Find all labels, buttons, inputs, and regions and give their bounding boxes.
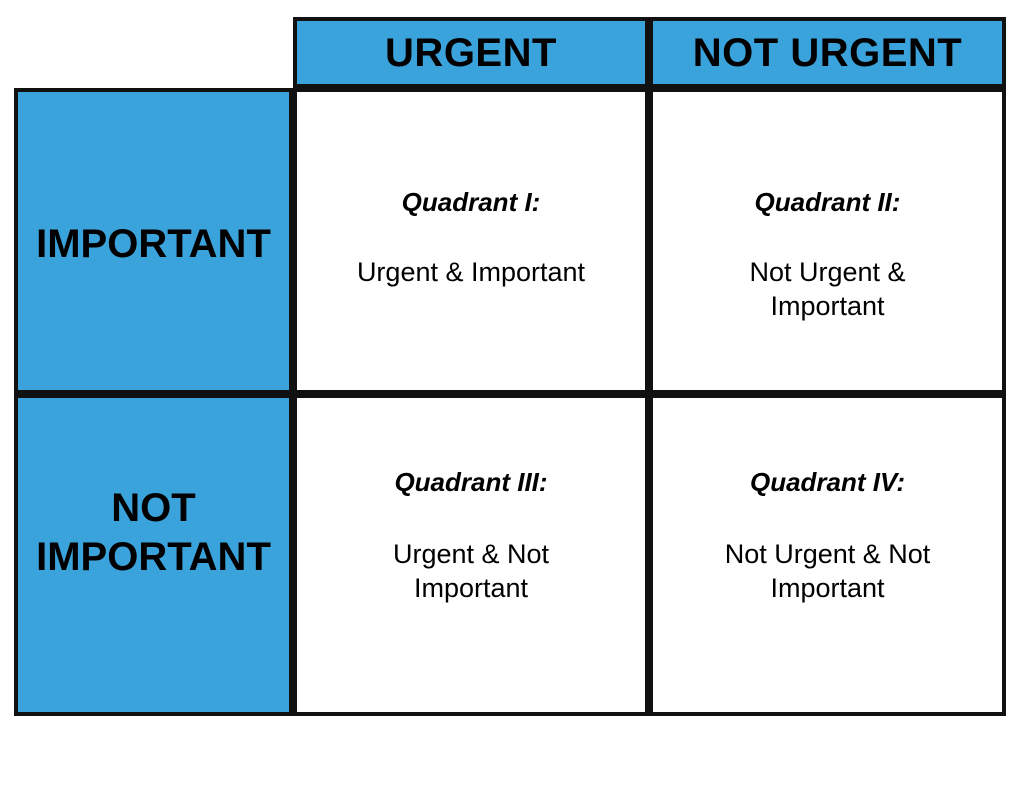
quadrant-2-cell[interactable]: Quadrant II: Not Urgent & Important [649,88,1006,394]
eisenhower-matrix: URGENT NOT URGENT IMPORTANT NOT IMPORTAN… [0,0,1024,791]
quadrant-2-title: Quadrant II: [755,188,901,217]
row-header-important[interactable]: IMPORTANT [14,88,293,394]
quadrant-1-description: Urgent & Important [357,255,585,290]
quadrant-3-description: Urgent & Not Important [376,537,566,606]
quadrant-3-cell[interactable]: Quadrant III: Urgent & Not Important [293,394,649,716]
row-header-not-important-label: NOT IMPORTANT [36,484,271,582]
column-header-urgent[interactable]: URGENT [293,17,649,88]
quadrant-1-cell[interactable]: Quadrant I: Urgent & Important [293,88,649,394]
quadrant-4-title: Quadrant IV: [750,468,905,497]
quadrant-3-title: Quadrant III: [394,468,547,497]
quadrant-4-description: Not Urgent & Not Important [703,537,953,606]
row-header-not-important[interactable]: NOT IMPORTANT [14,394,293,716]
column-header-not-urgent[interactable]: NOT URGENT [649,17,1006,88]
column-header-urgent-label: URGENT [385,33,557,73]
matrix-corner-spacer [0,0,293,88]
quadrant-2-description: Not Urgent & Important [720,255,935,324]
row-header-important-label: IMPORTANT [36,220,271,269]
quadrant-4-cell[interactable]: Quadrant IV: Not Urgent & Not Important [649,394,1006,716]
column-header-not-urgent-label: NOT URGENT [693,33,962,73]
quadrant-1-title: Quadrant I: [402,188,541,217]
